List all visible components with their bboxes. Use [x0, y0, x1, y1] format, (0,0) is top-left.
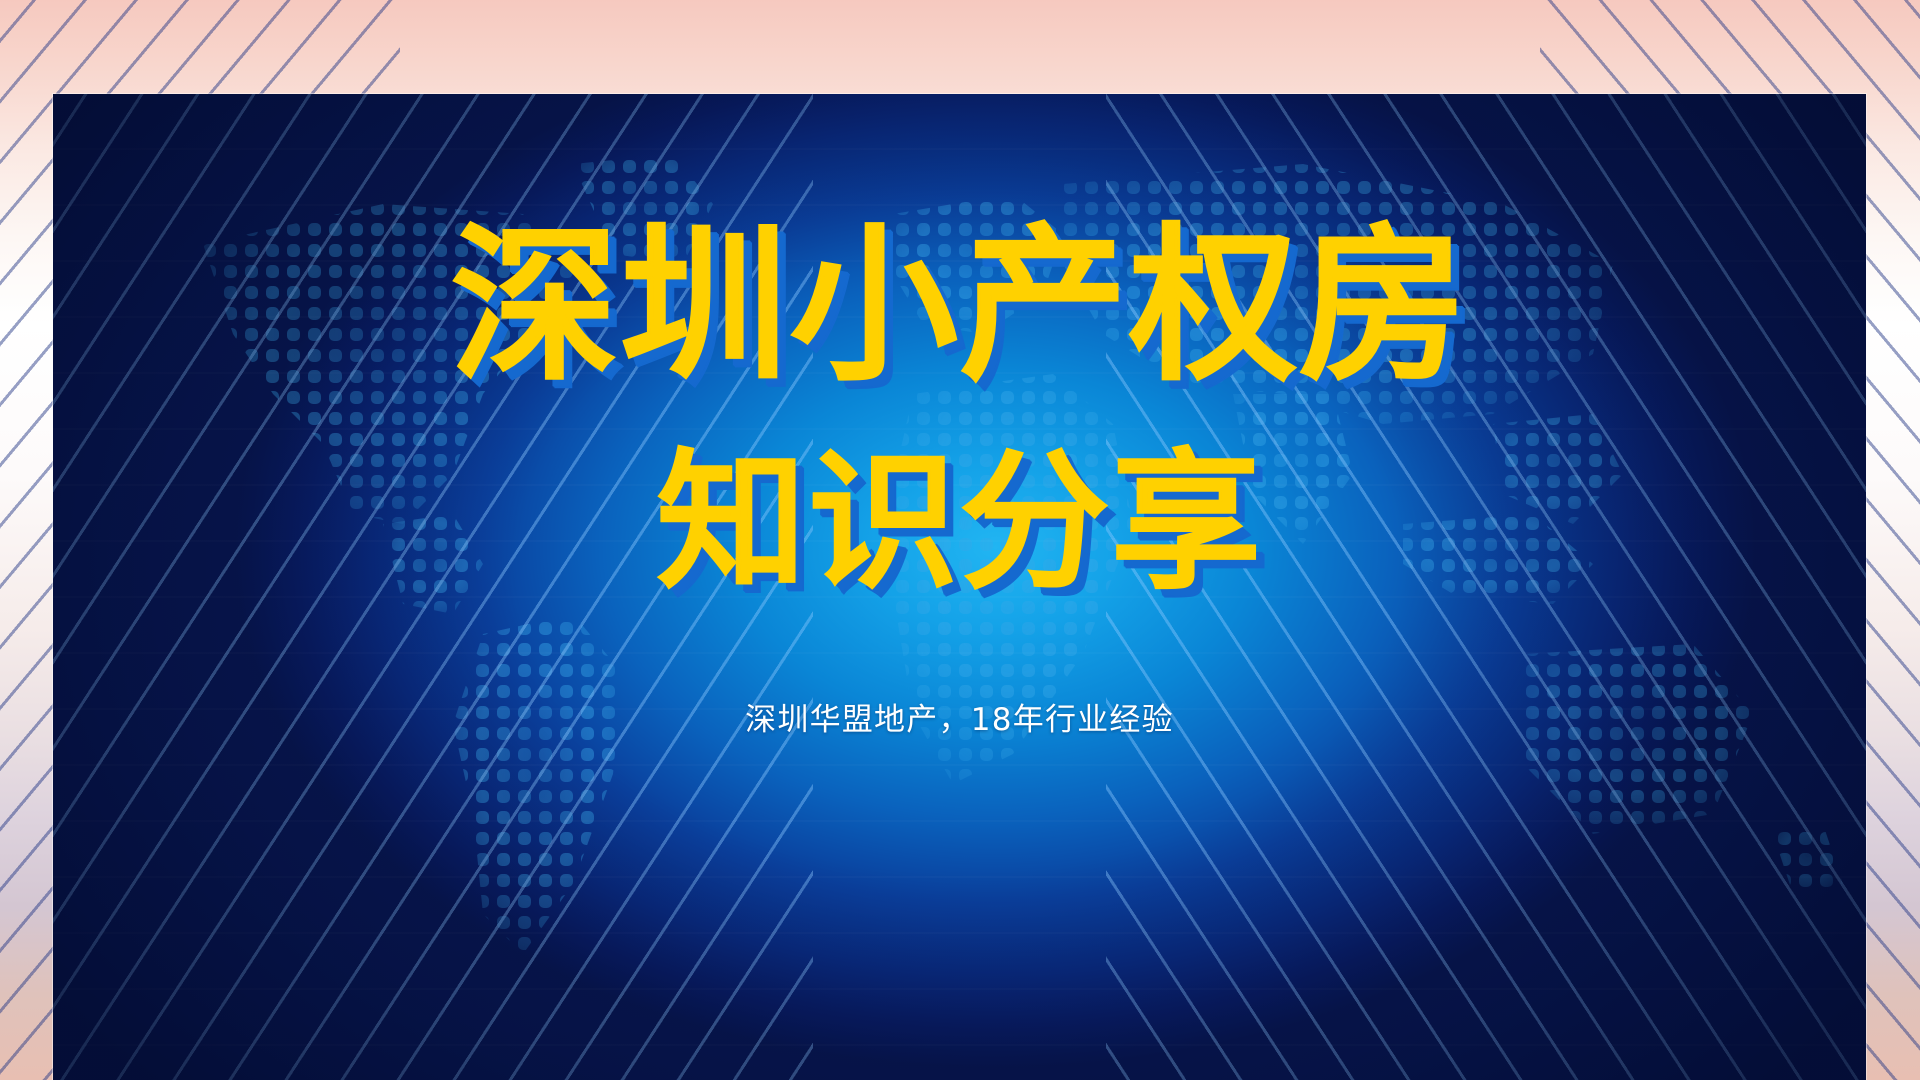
title-slide: 深圳小产权房 知识分享 深圳华盟地产，18年行业经验: [0, 0, 1920, 1080]
slide-panel: 深圳小产权房 知识分享 深圳华盟地产，18年行业经验: [53, 94, 1866, 1080]
dotted-world-map: [53, 94, 1866, 1080]
